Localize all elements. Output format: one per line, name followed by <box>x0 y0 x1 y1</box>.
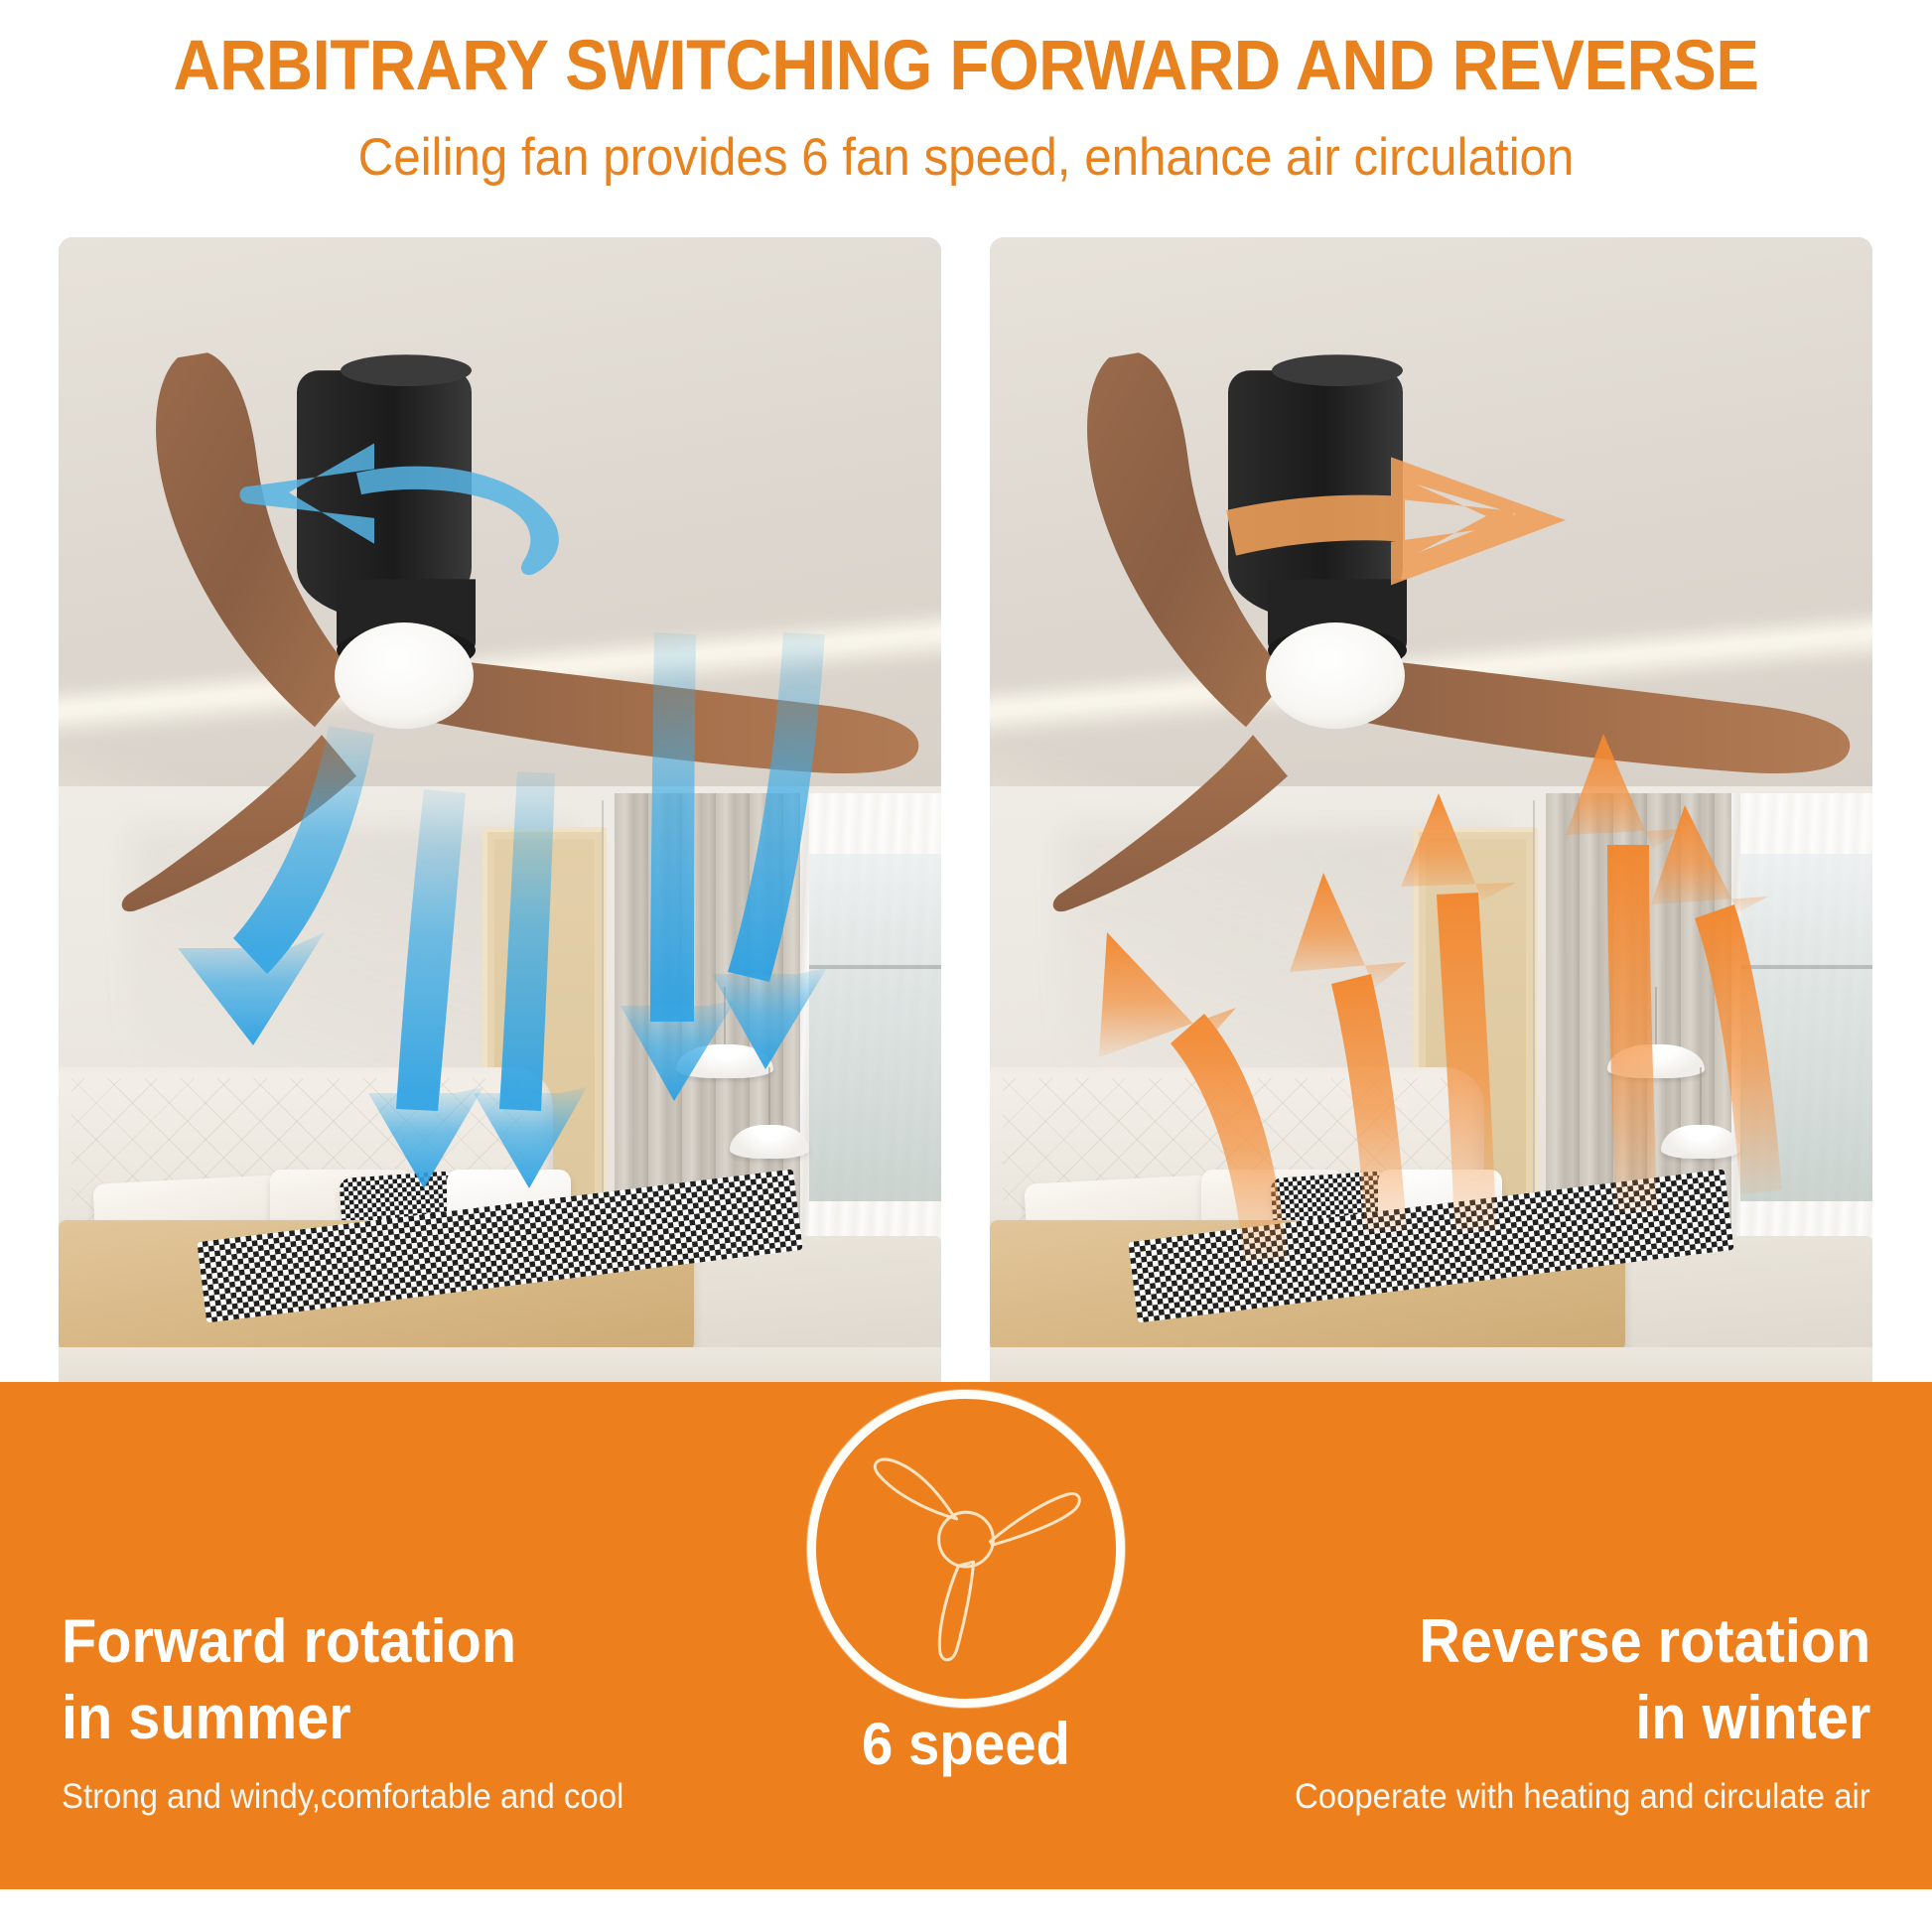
airflow-arrow <box>1401 793 1516 1232</box>
airflow-arrow <box>1651 805 1782 1194</box>
airflow-arrow <box>1099 932 1288 1262</box>
footer-headline-right: Reverse rotation in winter <box>1419 1604 1870 1757</box>
airflow-arrows-upward <box>990 237 1872 1577</box>
header: ARBITRARY SWITCHING FORWARD AND REVERSE … <box>0 0 1932 228</box>
airflow-arrow <box>621 632 736 1101</box>
airflow-arrow <box>712 632 827 1069</box>
airflow-arrow <box>178 726 374 1045</box>
airflow-arrows-downward <box>59 237 941 1577</box>
footer-headline-left: Forward rotation in summer <box>62 1604 516 1757</box>
fan-blades-icon <box>816 1399 1116 1699</box>
airflow-arrow <box>1290 873 1407 1232</box>
footer-caption-right: Cooperate with heating and circulate air <box>1295 1777 1870 1817</box>
photo-panel-reverse <box>990 237 1872 1577</box>
airflow-arrow <box>1566 734 1685 1212</box>
page-title: ARBITRARY SWITCHING FORWARD AND REVERSE <box>77 26 1855 106</box>
page-subtitle: Ceiling fan provides 6 fan speed, enhanc… <box>68 127 1864 188</box>
airflow-arrow <box>474 771 587 1188</box>
infographic-page: ARBITRARY SWITCHING FORWARD AND REVERSE … <box>0 0 1932 1932</box>
airflow-arrow <box>368 789 483 1188</box>
fan-speed-badge <box>807 1390 1125 1708</box>
photo-panel-forward <box>59 237 941 1577</box>
footer-caption-left: Strong and windy,comfortable and cool <box>62 1777 623 1817</box>
fan-speed-label: 6 speed <box>630 1710 1303 1778</box>
